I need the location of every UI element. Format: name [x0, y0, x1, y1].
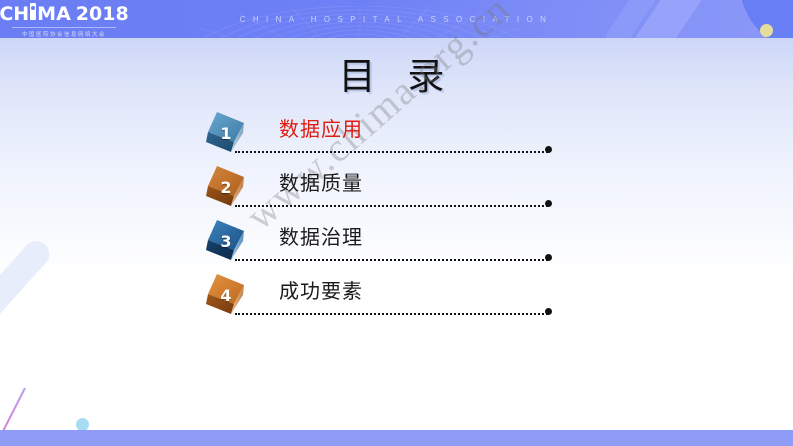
- cube-badge-2-number: 2: [203, 163, 249, 209]
- toc-item-3-leader: [235, 259, 548, 264]
- presentation-slide: CHINA HOSPITAL ASSOCIATION CH MA 2018 中国…: [0, 0, 793, 446]
- chima-logo-year: 2018: [76, 4, 129, 24]
- toc-item-3-label: 数据治理: [279, 221, 363, 250]
- decor-diagonal-bar: [0, 236, 55, 350]
- header-arc-pattern: [150, 6, 570, 38]
- chima-logo-i-icon: [30, 3, 36, 20]
- toc-item-2[interactable]: 2 数据质量: [203, 161, 548, 215]
- toc-item-1-label: 数据应用: [279, 113, 363, 142]
- chima-logo-wordmark: CH MA 2018: [0, 3, 129, 24]
- toc-item-4[interactable]: 4 成功要素: [203, 269, 548, 323]
- slide-title: 目 录: [0, 46, 793, 100]
- toc-item-3-end-dot-icon: [545, 254, 552, 261]
- chima-logo-suffix: MA: [37, 4, 71, 24]
- table-of-contents: 1 数据应用: [203, 107, 548, 323]
- toc-item-2-leader: [235, 205, 548, 210]
- toc-item-1-end-dot-icon: [545, 146, 552, 153]
- cube-badge-1: 1: [203, 109, 249, 155]
- header-gold-dot-icon: [760, 24, 773, 37]
- slide-header-bar: CHINA HOSPITAL ASSOCIATION CH MA 2018 中国…: [0, 0, 793, 38]
- toc-item-2-label: 数据质量: [279, 167, 363, 196]
- cube-badge-3-number: 3: [203, 217, 249, 263]
- toc-item-1[interactable]: 1 数据应用: [203, 107, 548, 161]
- cube-badge-4-number: 4: [203, 271, 249, 317]
- cube-badge-2: 2: [203, 163, 249, 209]
- toc-item-1-leader: [235, 151, 548, 156]
- chima-logo-subtitle: 中国医院协会信息网络大会: [12, 27, 116, 38]
- cube-badge-4: 4: [203, 271, 249, 317]
- cube-badge-3: 3: [203, 217, 249, 263]
- toc-item-4-leader: [235, 313, 548, 318]
- cube-badge-1-number: 1: [203, 109, 249, 155]
- toc-item-4-end-dot-icon: [545, 308, 552, 315]
- toc-item-3[interactable]: 3 数据治理: [203, 215, 548, 269]
- chima-logo-prefix: CH: [0, 4, 29, 24]
- toc-item-2-end-dot-icon: [545, 200, 552, 207]
- slide-footer-bar: [0, 430, 793, 446]
- toc-item-4-label: 成功要素: [279, 275, 363, 304]
- chima-logo: CH MA 2018 中国医院协会信息网络大会: [8, 3, 120, 35]
